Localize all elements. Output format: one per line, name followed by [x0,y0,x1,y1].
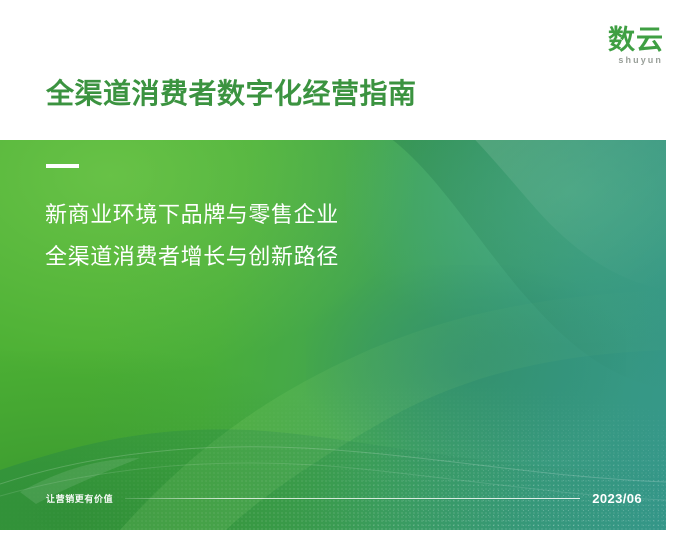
hero-subtitle: 新商业环境下品牌与零售企业 全渠道消费者增长与创新路径 [45,194,339,278]
footer-bar: 让营销更有价值 2023/06 [0,488,666,508]
hero-subtitle-line-2: 全渠道消费者增长与创新路径 [45,236,339,278]
logo-pinyin-text: shuyun [608,56,664,65]
footer-date: 2023/06 [592,491,642,506]
hero-subtitle-line-1: 新商业环境下品牌与零售企业 [45,194,339,236]
footer-tagline: 让营销更有价值 [46,492,113,505]
shuyun-logo: 数云 shuyun [608,26,664,65]
hero-panel: 新商业环境下品牌与零售企业 全渠道消费者增长与创新路径 让营销更有价值 2023… [0,140,666,530]
page-title: 全渠道消费者数字化经营指南 [46,78,417,110]
accent-rule [46,164,79,168]
cover-slide: 数云 shuyun 全渠道消费者数字化经营指南 [0,0,688,555]
logo-mark-text: 数云 [608,26,664,54]
header-band: 数云 shuyun 全渠道消费者数字化经营指南 [0,0,688,140]
footer-divider-line [125,498,580,499]
